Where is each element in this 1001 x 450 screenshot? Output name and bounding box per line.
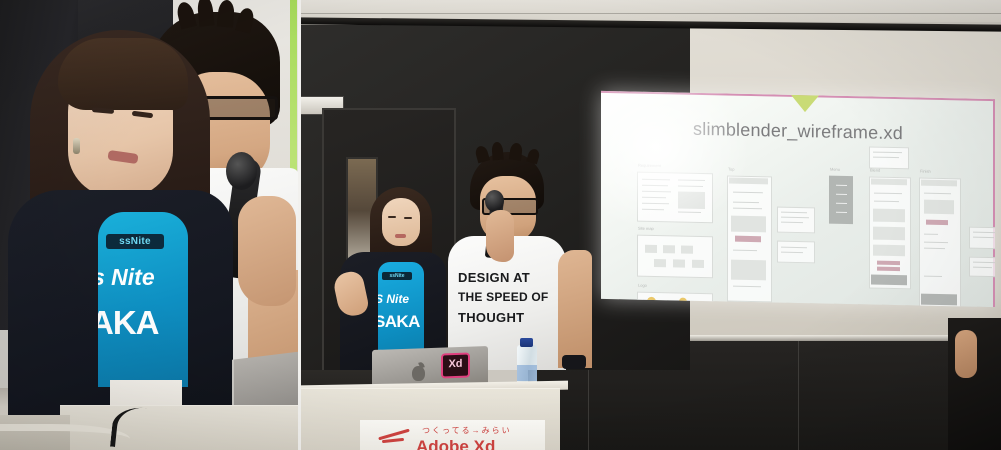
right-man-shirt-line1: DESIGN AT xyxy=(458,270,530,285)
wireframe-node xyxy=(654,259,666,267)
artboard-side-note-2 xyxy=(969,257,995,276)
left-woman-earring xyxy=(73,138,80,154)
left-woman-tshirt: ssNite s Nite AKA xyxy=(98,212,188,387)
mobile-statusbar xyxy=(871,179,907,186)
artboard-label: Requirement xyxy=(638,163,661,168)
artboard-overview-note xyxy=(869,146,907,167)
right-man-shirt-line2: THE SPEED OF xyxy=(458,290,548,304)
menu-item xyxy=(836,203,847,204)
triangle-down-marker-icon xyxy=(791,95,819,113)
left-man-hair-spike xyxy=(217,0,235,28)
artboard-label: Blend xyxy=(870,168,880,173)
panel-divider xyxy=(298,0,301,450)
right-photo-panel: slimblender_wireframe.xd Requirement Sit… xyxy=(300,0,1001,450)
wireframe-block xyxy=(873,209,905,223)
wireframe-card xyxy=(777,207,815,234)
sign-wordmark: Adobe Xd xyxy=(416,437,495,450)
artboard-label: Menu xyxy=(830,167,840,172)
left-man-hand xyxy=(238,196,296,306)
wireframe-node xyxy=(645,245,657,253)
artboard-side-note xyxy=(969,227,995,248)
left-woman-bangs xyxy=(58,38,188,110)
artboard-note xyxy=(777,207,813,232)
mobile-statusbar xyxy=(921,180,957,187)
wireframe-node xyxy=(663,245,675,253)
wireframe-block xyxy=(873,227,905,241)
right-woman-shirt-line2: SAKA xyxy=(378,312,424,332)
right-woman-mouth xyxy=(395,234,406,238)
podium-sign: つくってる→みらい Adobe Xd xyxy=(360,420,545,450)
right-woman-eye-left xyxy=(388,216,396,218)
right-microphone-head xyxy=(485,190,504,212)
wall-panel-seam xyxy=(798,341,799,450)
artboard-top: Top xyxy=(727,176,770,301)
wristwatch xyxy=(562,355,586,369)
sign-tagline: つくってる→みらい xyxy=(422,425,512,436)
mobile-statusbar xyxy=(729,178,768,185)
menu-item xyxy=(836,212,847,213)
right-man-right-arm xyxy=(558,250,592,368)
wireframe-block xyxy=(731,216,766,233)
wireframe-primary-button xyxy=(871,275,907,286)
wireframe-cta xyxy=(926,220,948,225)
right-woman-shirt-line1: S Nite xyxy=(378,292,424,306)
artboard-menu: Menu xyxy=(829,176,853,225)
artboard-label: Finish xyxy=(920,169,931,174)
artboard-label: Logo xyxy=(638,283,647,288)
water-bottle-cap xyxy=(520,338,533,347)
apple-logo-icon xyxy=(412,366,425,381)
menu-item xyxy=(836,185,847,186)
left-microphone-head xyxy=(226,152,257,190)
left-woman-shirt-line1: s Nite xyxy=(98,264,188,291)
right-man-hand xyxy=(486,210,514,262)
artboard-sitemap: Site map xyxy=(637,235,711,277)
wireframe-block xyxy=(678,191,705,209)
sign-brand-mark-icon xyxy=(378,427,412,443)
right-woman-shirt-badge: ssNite xyxy=(382,272,412,280)
artboard-label: Top xyxy=(728,167,734,172)
right-man-hair-spike xyxy=(509,142,523,160)
water-bottle-label xyxy=(517,365,537,381)
wireframe-node xyxy=(673,259,685,267)
right-man-shirt-line3: THOUGHT xyxy=(458,310,524,325)
left-woman-shirt-badge: ssNite xyxy=(106,234,164,249)
right-woman-eye-right xyxy=(404,217,412,219)
adobe-xd-sticker-icon: Xd xyxy=(441,352,470,378)
menu-item xyxy=(836,194,847,195)
bystander-arm xyxy=(955,330,977,378)
wireframe-cta xyxy=(877,261,900,265)
left-photo-panel: SGN AT SPEED HT ssNite s Nite AKA CSS Ni… xyxy=(0,0,300,450)
wireframe-block xyxy=(873,245,905,257)
wireframe-cta xyxy=(877,267,900,271)
wireframe-cta xyxy=(735,236,761,243)
wireframe-block xyxy=(924,200,954,215)
projection-screen: slimblender_wireframe.xd Requirement Sit… xyxy=(601,91,995,307)
menu-panel xyxy=(829,176,853,225)
wireframe-node xyxy=(692,260,704,268)
artboard-note-2 xyxy=(777,241,813,262)
wireframe-card xyxy=(637,235,713,279)
left-woman-shirt-line2: AKA xyxy=(98,304,188,342)
ceiling-tile-line xyxy=(300,13,1001,14)
artboard-finish: Finish xyxy=(919,178,959,308)
photo-composite: SGN AT SPEED HT ssNite s Nite AKA CSS Ni… xyxy=(0,0,1001,450)
artboard-label: Site map xyxy=(638,226,654,231)
slide-title: slimblender_wireframe.xd xyxy=(601,117,995,146)
left-man-hair-spike xyxy=(196,0,214,27)
right-woman-face xyxy=(382,198,420,246)
wireframe-node xyxy=(681,246,693,254)
artboard-blend: Blend xyxy=(869,176,909,287)
artboard-requirement: Requirement xyxy=(637,172,711,222)
wireframe-block xyxy=(731,260,766,281)
wireframe-primary-button xyxy=(921,294,957,306)
